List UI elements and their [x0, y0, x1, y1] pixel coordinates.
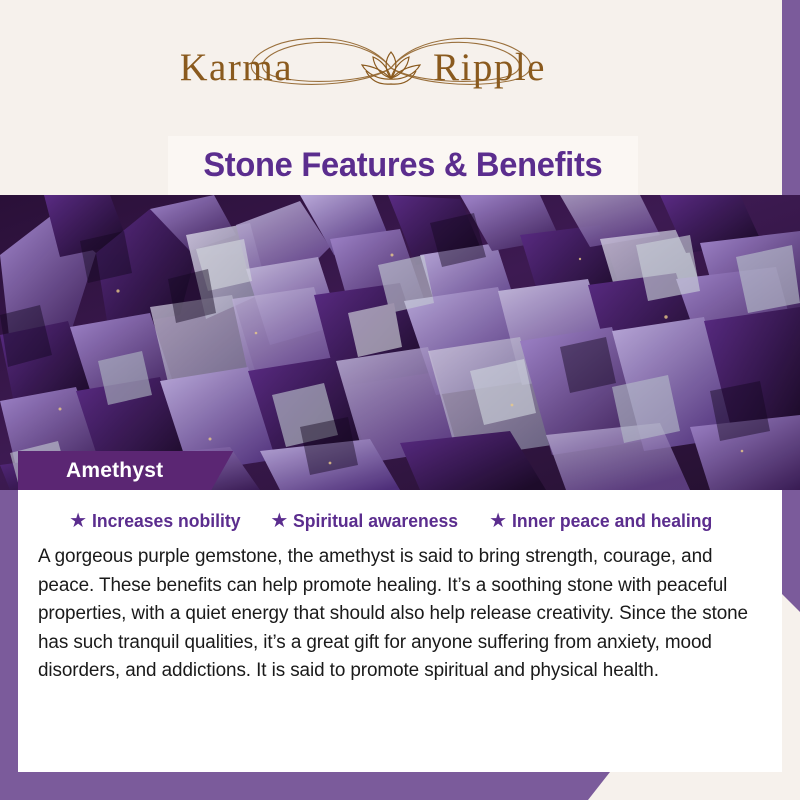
brand-name-left: Karma [181, 46, 293, 89]
stone-image [0, 195, 800, 490]
star-icon: ★ [270, 511, 288, 531]
logo-svg: Karma Ripple [181, 26, 601, 110]
header: Karma Ripple Stone Features & Benefits [0, 0, 782, 195]
benefit-item: ★ Spiritual awareness [270, 510, 467, 532]
brand-logo: Karma Ripple [0, 26, 782, 110]
benefit-label: Inner peace and healing [512, 510, 712, 532]
content-panel: ★ Increases nobility ★ Spiritual awarene… [18, 490, 782, 772]
brand-name-right: Ripple [433, 46, 546, 89]
star-icon: ★ [489, 511, 507, 531]
bottom-frame-bar [0, 772, 610, 800]
benefit-label: Spiritual awareness [293, 510, 458, 532]
page-title: Stone Features & Benefits [203, 146, 602, 185]
star-icon: ★ [69, 511, 87, 531]
amethyst-crystal-graphic [0, 195, 800, 490]
benefit-item: ★ Increases nobility [69, 510, 248, 532]
stone-name-label: Amethyst [66, 459, 163, 483]
stone-info-card: Karma Ripple Stone Features & Benefits [0, 0, 800, 800]
stone-name-badge: Amethyst [18, 451, 233, 490]
benefit-label: Increases nobility [92, 510, 240, 532]
benefits-list: ★ Increases nobility ★ Spiritual awarene… [38, 504, 754, 542]
benefit-item: ★ Inner peace and healing [489, 510, 723, 532]
left-frame-bar [0, 489, 18, 800]
page-title-plate: Stone Features & Benefits [168, 136, 638, 195]
stone-description: A gorgeous purple gemstone, the amethyst… [38, 542, 750, 685]
